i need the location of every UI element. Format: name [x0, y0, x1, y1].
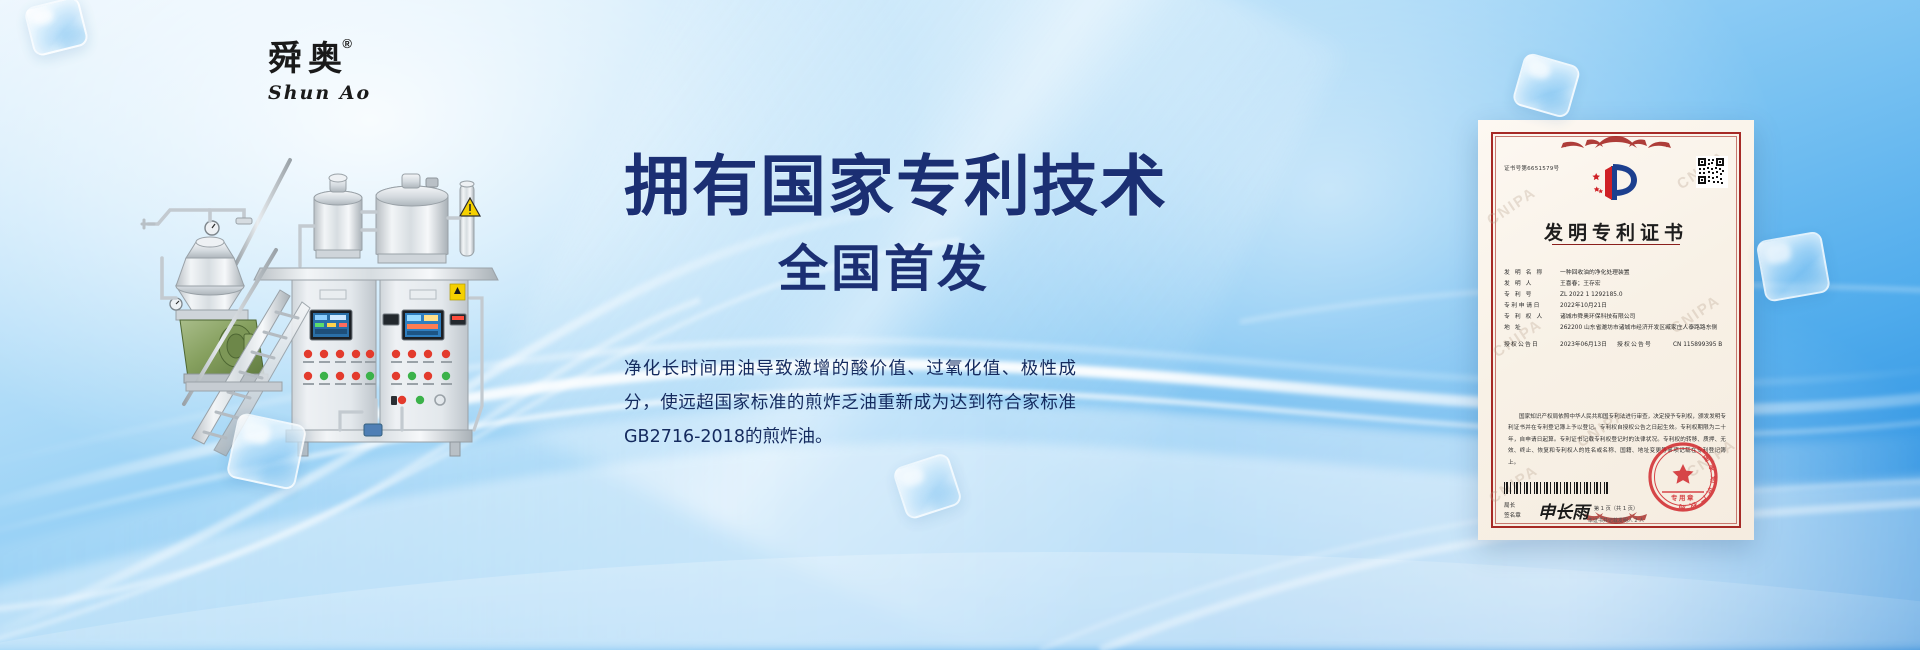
ice-cube-3 — [1755, 231, 1826, 299]
certificate-field-row: 专利申请日 2022年10月21日 — [1504, 301, 1730, 312]
registered-trademark-icon: ® — [342, 36, 352, 51]
headline-line-1: 拥有国家专利技术 — [624, 152, 1144, 221]
field-value: 一种回收油的净化处理装置 — [1560, 268, 1730, 279]
field-value: 2022年10月21日 — [1560, 301, 1730, 312]
field-key: 专 利 号 — [1504, 290, 1560, 301]
field-value: ZL 2022 1 1292185.0 — [1560, 290, 1730, 301]
ice-cube-face — [892, 452, 964, 521]
svg-text:专用章: 专用章 — [1671, 493, 1695, 502]
grant-no-key: 授权公告号 — [1617, 340, 1673, 351]
grant-date-key: 授权公告日 — [1504, 340, 1560, 351]
certificate-number: 证书号第6651579号 — [1504, 164, 1559, 172]
certificate-barcode — [1504, 482, 1608, 494]
field-key: 发 明 名 称 — [1504, 268, 1560, 279]
certificate-footnote: 本证书共记载发明人 2 人 — [1478, 517, 1754, 524]
certificate-field-row: 发 明 人 王喜春；王存宏 — [1504, 279, 1730, 290]
oil-purification-machine — [140, 138, 610, 468]
ice-cube-face — [1511, 52, 1582, 120]
patent-certificate: CNIPA CNIPA CNIPA CNIPA CNIPA CNIPA CNIP… — [1478, 120, 1754, 540]
certificate-fields: 发 明 名 称 一种回收油的净化处理装置 发 明 人 王喜春；王存宏 专 利 号… — [1504, 268, 1730, 351]
headline-line-2: 全国首发 — [624, 243, 1144, 296]
svg-text:国家知识产权局: 国家知识产权局 — [1675, 452, 1719, 512]
shun-ao-logo: 舜奥 ® Shun Ao — [268, 42, 398, 122]
ice-cube-2 — [1512, 52, 1578, 115]
grant-no-value: CN 115899395 B — [1673, 340, 1722, 351]
certificate-field-row: 地 址 262200 山东省潍坊市诸城市经济开发区臧家庄人泰路路东侧 — [1504, 323, 1730, 334]
ice-cube-1 — [23, 0, 85, 54]
qr-code-icon — [1696, 156, 1728, 188]
ice-cube-5 — [892, 453, 959, 517]
field-key: 专 利 权 人 — [1504, 312, 1560, 323]
certificate-grant-row: 授权公告日 2023年06月13日 授权公告号 CN 115899395 B — [1504, 340, 1730, 351]
logo-english-name: Shun Ao — [268, 82, 398, 104]
hero-banner: 舜奥 ® Shun Ao — [0, 0, 1920, 650]
hero-copy: 拥有国家专利技术 全国首发 净化长时间用油导致激增的酸价值、过氧化值、极性成分，… — [624, 152, 1144, 454]
field-value: 诸城市舜奥环保科技有限公司 — [1560, 312, 1730, 323]
ice-cube-face — [1755, 230, 1831, 303]
field-value: 王喜春；王存宏 — [1560, 279, 1730, 290]
certificate-field-row: 专 利 号 ZL 2022 1 1292185.0 — [1504, 290, 1730, 301]
certificate-ornament-top — [1541, 134, 1691, 155]
cnipa-emblem-icon — [1589, 160, 1643, 207]
field-key: 发 明 人 — [1504, 279, 1560, 290]
field-key: 专利申请日 — [1504, 301, 1560, 312]
hero-description: 净化长时间用油导致激增的酸价值、过氧化值、极性成分，使远超国家标准的煎炸乏油重新… — [624, 352, 1076, 454]
certificate-field-row: 专 利 权 人 诸城市舜奥环保科技有限公司 — [1504, 312, 1730, 323]
certificate-title-rule — [1552, 244, 1680, 245]
grant-date-value: 2023年06月13日 — [1560, 340, 1607, 351]
field-key: 地 址 — [1504, 323, 1560, 334]
certificate-field-row: 发 明 名 称 一种回收油的净化处理装置 — [1504, 268, 1730, 279]
official-red-seal: 国家知识产权局 专用章 — [1646, 440, 1720, 514]
ice-cube-face — [23, 0, 89, 57]
certificate-title: 发明专利证书 — [1478, 218, 1754, 245]
logo-chinese-name: 舜奥 — [268, 39, 348, 79]
field-value: 262200 山东省潍坊市诸城市经济开发区臧家庄人泰路路东侧 — [1560, 323, 1730, 334]
certificate-page-number: 第 1 页（共 1 页） — [1478, 505, 1754, 512]
